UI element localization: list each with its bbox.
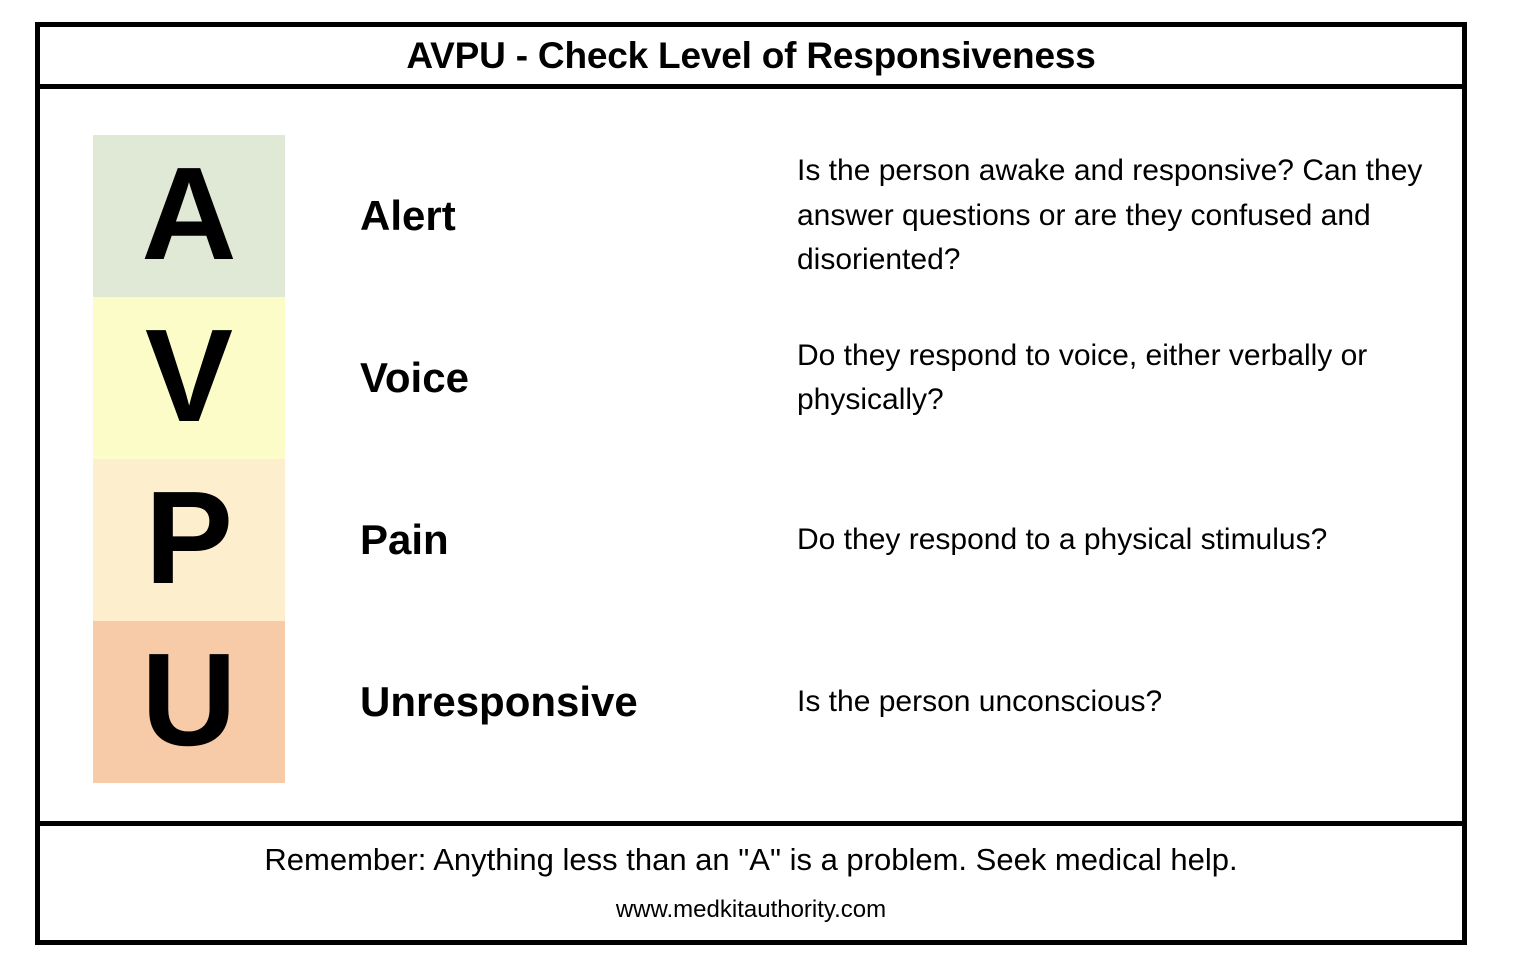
avpu-rows-container: A Alert Is the person awake and responsi… xyxy=(40,89,1462,821)
term-label: Alert xyxy=(360,192,456,240)
description-cell: Is the person awake and responsive? Can … xyxy=(797,135,1457,297)
description-text: Is the person awake and responsive? Can … xyxy=(797,149,1457,282)
footer-reminder-text: Remember: Anything less than an "A" is a… xyxy=(264,842,1237,878)
letter-swatch-u: U xyxy=(93,621,285,783)
letter-swatch-a: A xyxy=(93,135,285,297)
table-row: V Voice Do they respond to voice, either… xyxy=(40,297,1462,459)
card-title-bar: AVPU - Check Level of Responsiveness xyxy=(40,27,1462,89)
table-row: P Pain Do they respond to a physical sti… xyxy=(40,459,1462,621)
term-label: Unresponsive xyxy=(360,678,638,726)
description-cell: Is the person unconscious? xyxy=(797,621,1457,783)
letter-glyph: A xyxy=(141,148,236,280)
term-label: Voice xyxy=(360,354,469,402)
term-cell: Pain xyxy=(360,459,780,621)
table-row: A Alert Is the person awake and responsi… xyxy=(40,135,1462,297)
description-cell: Do they respond to a physical stimulus? xyxy=(797,459,1457,621)
avpu-info-card: AVPU - Check Level of Responsiveness A A… xyxy=(35,22,1467,945)
letter-glyph: U xyxy=(141,634,236,766)
footer-website-url: www.medkitauthority.com xyxy=(616,896,886,924)
table-row: U Unresponsive Is the person unconscious… xyxy=(40,621,1462,783)
card-footer: Remember: Anything less than an "A" is a… xyxy=(40,821,1462,940)
description-text: Do they respond to voice, either verball… xyxy=(797,334,1457,423)
term-label: Pain xyxy=(360,516,449,564)
letter-swatch-v: V xyxy=(93,297,285,459)
term-cell: Voice xyxy=(360,297,780,459)
page-title: AVPU - Check Level of Responsiveness xyxy=(406,35,1095,77)
letter-glyph: P xyxy=(145,472,233,604)
letter-glyph: V xyxy=(145,310,233,442)
term-cell: Unresponsive xyxy=(360,621,780,783)
description-text: Is the person unconscious? xyxy=(797,680,1162,724)
description-text: Do they respond to a physical stimulus? xyxy=(797,518,1327,562)
description-cell: Do they respond to voice, either verball… xyxy=(797,297,1457,459)
term-cell: Alert xyxy=(360,135,780,297)
letter-swatch-p: P xyxy=(93,459,285,621)
